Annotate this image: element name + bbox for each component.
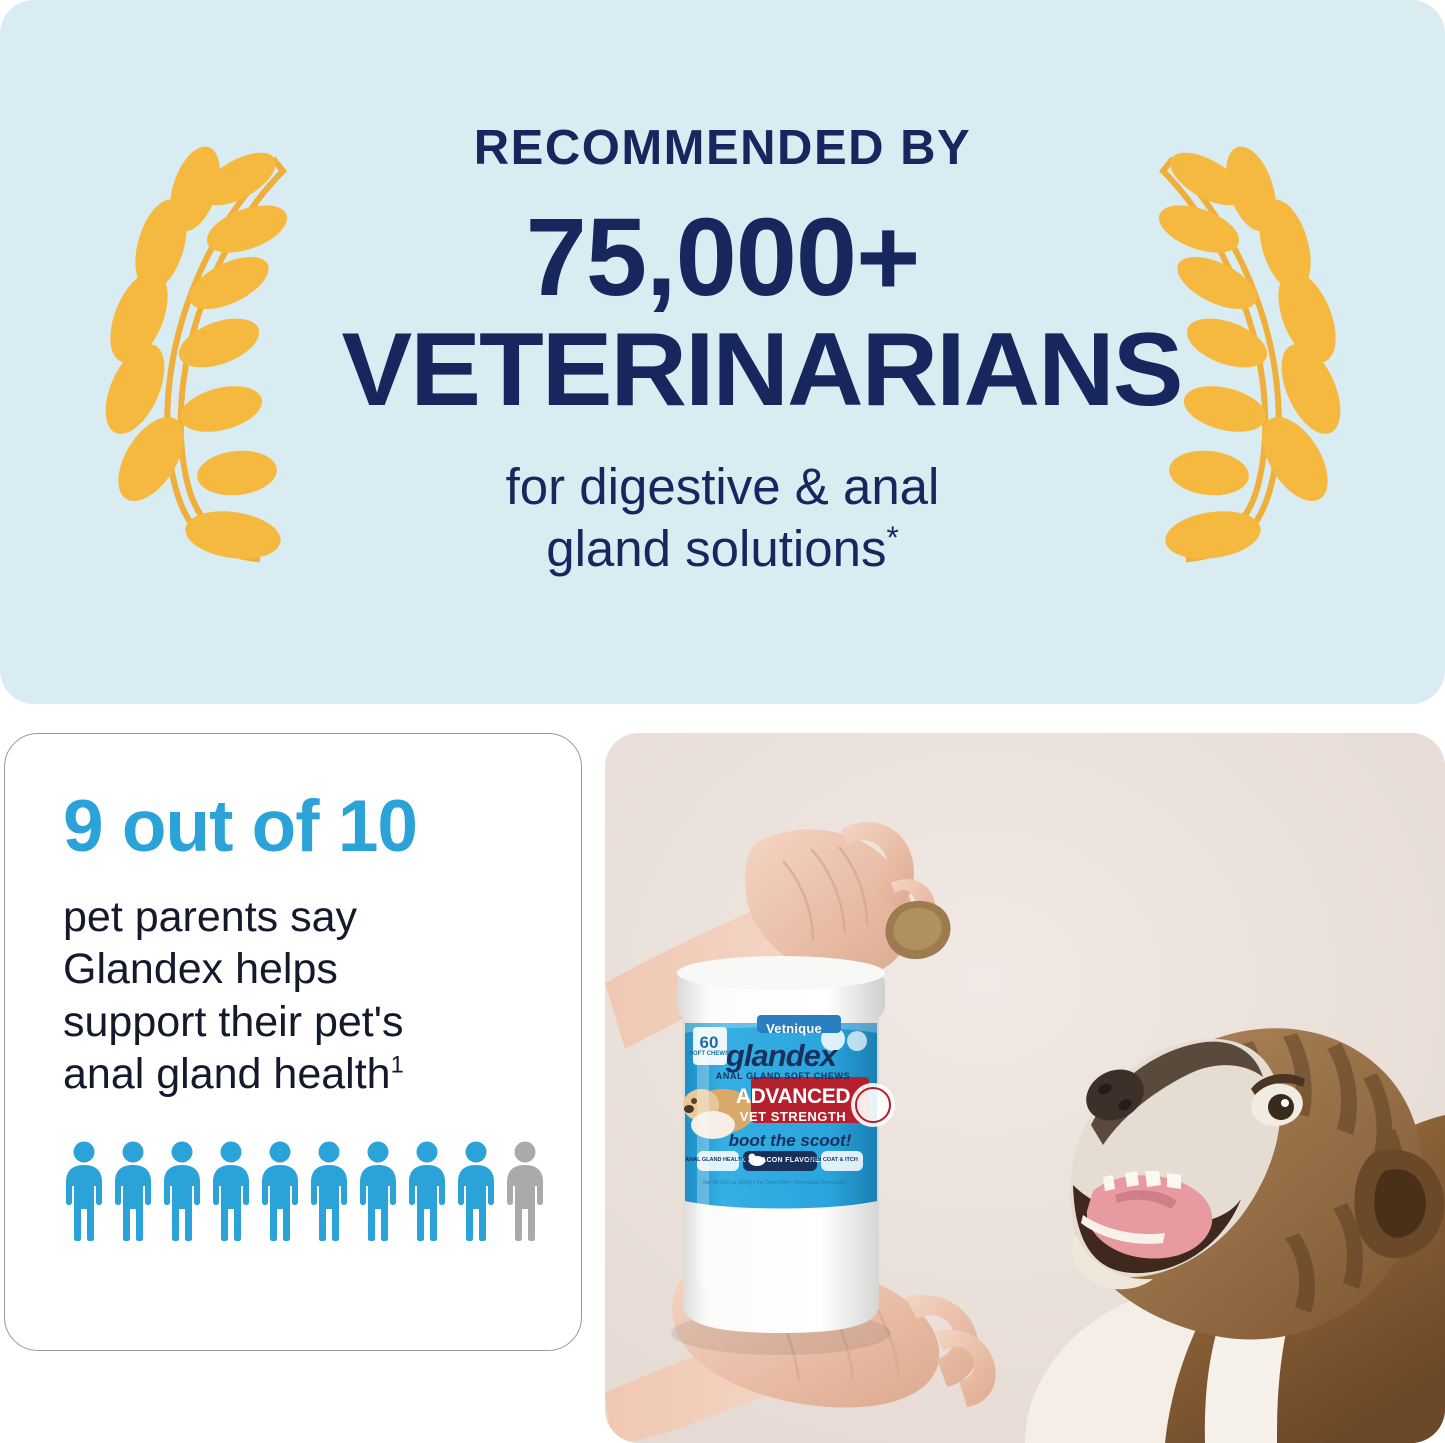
banner-subline-2: gland solutions*: [349, 518, 1097, 580]
recommended-by-banner: RECOMMENDED BY 75,000+ VETERINARIANS for…: [0, 0, 1445, 704]
banner-subline-1: for digestive & anal: [349, 456, 1097, 518]
banner-subline: for digestive & anal gland solutions*: [349, 456, 1097, 580]
person-icon-filled: [406, 1141, 448, 1241]
pet-parents-stat-card: 9 out of 10 pet parents say Glandex help…: [4, 733, 582, 1351]
product-photo-illustration: [605, 733, 1445, 1443]
laurel-wreath-left-icon: [43, 137, 343, 567]
banner-big-word: VETERINARIANS: [341, 318, 1104, 422]
person-icon-filled: [63, 1141, 105, 1241]
person-icon-filled: [308, 1141, 350, 1241]
stat-body-line-4: anal gland health: [63, 1050, 391, 1098]
product-photo-panel: Vetnique glandex ANAL GLAND SOFT CHEWS A…: [605, 733, 1445, 1443]
person-icon-filled: [259, 1141, 301, 1241]
laurel-wreath-right-icon: [1103, 137, 1403, 567]
stat-headline: 9 out of 10: [63, 790, 533, 863]
banner-subline-footnote: *: [886, 519, 898, 555]
person-icon-unfilled: [504, 1141, 546, 1241]
person-icon-filled: [210, 1141, 252, 1241]
banner-text-block: RECOMMENDED BY 75,000+ VETERINARIANS for…: [343, 124, 1103, 580]
person-icon-filled: [357, 1141, 399, 1241]
stat-body: pet parents say Glandex helps support th…: [63, 891, 533, 1101]
pictogram-people-row: [63, 1141, 533, 1241]
stat-body-line-3: support their pet's: [63, 998, 403, 1046]
person-icon-filled: [112, 1141, 154, 1241]
infographic-page: RECOMMENDED BY 75,000+ VETERINARIANS for…: [0, 0, 1445, 1443]
glandex-jar: [671, 956, 895, 1355]
banner-kicker: RECOMMENDED BY: [349, 124, 1097, 173]
stat-body-line-2: Glandex helps: [63, 945, 338, 993]
banner-subline-2-text: gland solutions: [546, 520, 886, 577]
stat-body-footnote: 1: [391, 1053, 404, 1079]
stat-body-line-1: pet parents say: [63, 893, 357, 941]
person-icon-filled: [161, 1141, 203, 1241]
person-icon-filled: [455, 1141, 497, 1241]
banner-big-number: 75,000+: [349, 199, 1097, 318]
